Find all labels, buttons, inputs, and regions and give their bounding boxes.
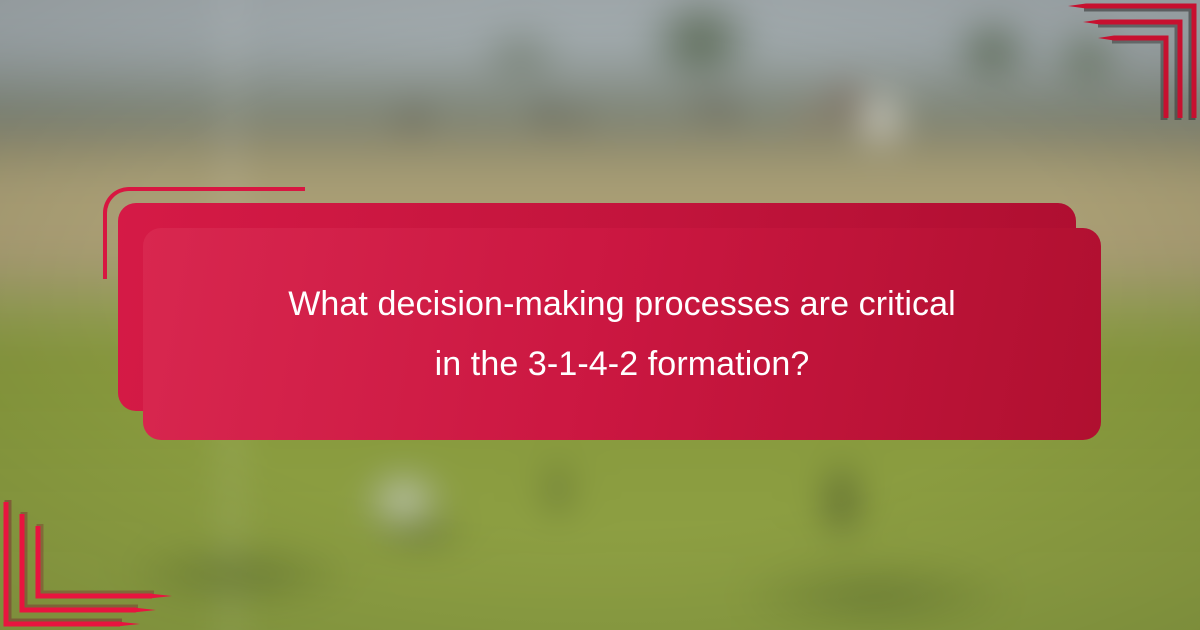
question-text-block: What decision-making processes are criti… <box>143 228 1101 440</box>
share-card-canvas: What decision-making processes are criti… <box>0 0 1200 630</box>
question-line-2: in the 3-1-4-2 formation? <box>435 339 810 389</box>
question-card: What decision-making processes are criti… <box>100 182 1110 447</box>
question-line-1: What decision-making processes are criti… <box>288 279 956 329</box>
